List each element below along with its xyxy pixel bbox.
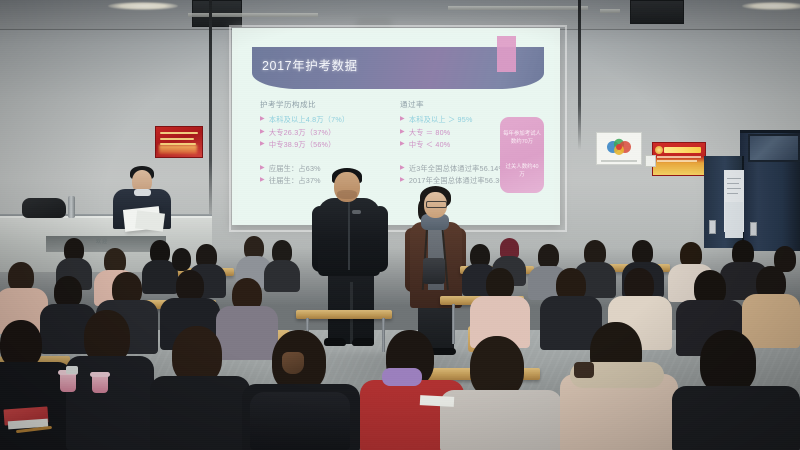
ceiling-rail-left [188,13,318,17]
right-wall-award-poster [652,142,706,176]
lectern-presenter-collar [134,189,151,196]
notebook-white [420,395,454,407]
door-handle-left[interactable] [709,220,716,234]
audience-shoulders-front [150,376,250,450]
poster-seal-icon [655,146,663,154]
audience-head [172,248,191,271]
standing-man-zipper [348,200,350,270]
standing-man-face-shadow [337,190,357,199]
audience-shoulders [264,260,300,292]
audience-head-front [0,320,42,368]
left-wall-red-poster [155,126,203,158]
paper-cup-white [66,366,78,374]
desk-leg [452,304,455,344]
lectern-presenter-papers-2 [135,210,165,231]
classroom-photo: 2017年护考数据 护考学历构成比 ▶本科及以上4.8万（7%） ▶大专26.3… [0,0,800,450]
audience-head-front [700,330,756,394]
ceiling-light-right [742,2,800,10]
ceiling-rail-right [448,6,588,10]
door-window [748,134,800,162]
standing-woman-glasses-icon [426,201,447,208]
bag-on-chair [574,362,594,378]
door-notice-paper-2 [725,202,743,238]
classroom-door[interactable] [700,62,800,248]
ceiling-speaker-right [630,0,684,24]
emblem-icon [604,138,634,156]
standing-man-shoe-left [324,338,346,346]
desk-leg [382,318,385,352]
desk-row-back-center [296,310,392,319]
ceiling-light-left [108,2,178,10]
pink-cup-2-lid [90,372,110,377]
audience-shoulders [216,306,278,360]
black-bag [22,198,66,218]
podium-label: 欢迎 [96,238,108,245]
ceiling-rail-small [600,9,620,13]
handbag-on-floor [282,352,304,374]
audience-jacket-front [250,392,350,450]
wall-edge-left [209,0,212,230]
audience-head-with-hat [500,238,519,258]
wall-edge-right [578,0,581,150]
right-wall-emblem-poster [596,132,642,165]
audience-shoulders-front-gray [440,390,562,450]
audience-head-front [470,336,524,398]
door-handle-right[interactable] [750,222,757,236]
screen-bezel [229,25,567,232]
audience-shoulders-front [672,386,800,450]
standing-woman-handbag [423,258,445,284]
standing-man-jacket-logo [352,210,361,214]
audience-shoulders-front [66,356,154,450]
standing-man-shoe-right [352,338,374,346]
audience-shoulders [742,294,800,348]
wall-small-note [645,155,656,167]
audience-purple-scarf [382,368,422,386]
silver-bottle [68,196,75,218]
pink-cup-1 [60,372,76,392]
